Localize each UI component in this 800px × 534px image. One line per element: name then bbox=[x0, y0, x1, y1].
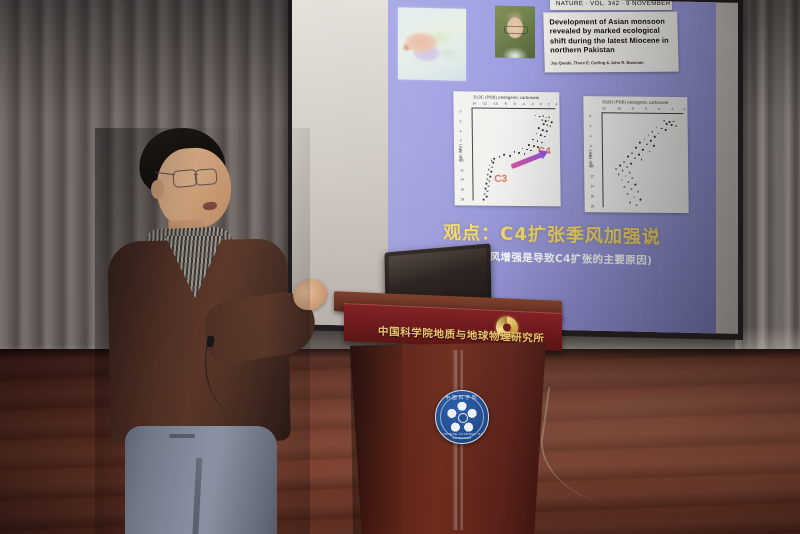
data-point bbox=[541, 142, 543, 144]
chart-delta18o-xticks: -12-10-8-6-4-20 bbox=[601, 106, 685, 111]
data-point bbox=[643, 138, 645, 140]
data-point bbox=[631, 152, 633, 154]
data-point bbox=[546, 130, 548, 132]
data-point bbox=[549, 126, 551, 128]
axis-tick: -10 bbox=[493, 102, 498, 106]
data-point bbox=[485, 188, 487, 190]
data-point bbox=[625, 175, 627, 177]
data-point bbox=[640, 199, 642, 201]
cas-emblem-cn-text: 中国科学院 bbox=[436, 395, 488, 401]
author-portrait-photo bbox=[495, 6, 535, 59]
asia-topographic-map-image bbox=[398, 7, 466, 80]
data-point bbox=[485, 183, 487, 185]
axis-tick: -2 bbox=[670, 107, 673, 111]
paper-title-card: Development of Asian monsoon revealed by… bbox=[543, 12, 679, 72]
data-point bbox=[542, 129, 544, 131]
lectern: 中国科学院地质与地球物理研究所 中国科学院 CHINESE ACADEMY OF… bbox=[330, 262, 562, 534]
speaker bbox=[95, 128, 310, 534]
chart-delta18o-yaxis bbox=[601, 112, 603, 207]
axis-tick: -10 bbox=[616, 106, 621, 110]
data-point bbox=[533, 145, 535, 147]
data-point bbox=[484, 193, 486, 195]
data-point bbox=[629, 202, 631, 204]
data-point bbox=[544, 136, 546, 138]
data-point bbox=[634, 184, 636, 186]
data-point bbox=[621, 179, 623, 181]
data-point bbox=[528, 144, 530, 146]
data-point bbox=[518, 152, 520, 154]
data-point bbox=[665, 129, 667, 131]
axis-tick: -14 bbox=[471, 101, 476, 105]
axis-tick: 16 bbox=[590, 194, 594, 198]
data-point bbox=[642, 149, 644, 151]
data-point bbox=[539, 116, 541, 118]
data-point bbox=[538, 128, 540, 130]
axis-tick: 0 bbox=[460, 109, 464, 113]
data-point bbox=[489, 164, 491, 166]
data-point bbox=[649, 150, 651, 152]
speaker-glasses-right-lens bbox=[194, 168, 217, 186]
data-point bbox=[647, 135, 649, 137]
data-point bbox=[499, 156, 501, 158]
data-point bbox=[487, 174, 489, 176]
axis-tick: -2 bbox=[531, 102, 534, 106]
chart-delta13c: δ13C (PDB) pedogenic carbonate -14-12-10… bbox=[453, 91, 560, 206]
chart-delta18o-xaxis bbox=[601, 112, 683, 114]
data-point bbox=[655, 126, 657, 128]
data-point bbox=[542, 115, 544, 117]
cas-emblem-core bbox=[458, 413, 468, 423]
data-point bbox=[636, 204, 638, 206]
speaker-ear bbox=[151, 180, 164, 199]
slide-heading: 观点：C4扩张季风加强说 bbox=[388, 217, 716, 250]
chart-delta18o-ytitle: Age (Myr) bbox=[587, 139, 592, 179]
axis-tick: 18 bbox=[461, 197, 465, 201]
data-point bbox=[635, 147, 637, 149]
data-point bbox=[676, 125, 678, 127]
data-point bbox=[503, 154, 505, 156]
data-point bbox=[532, 139, 534, 141]
data-point bbox=[653, 145, 655, 147]
axis-tick: -4 bbox=[657, 107, 660, 111]
data-point bbox=[540, 134, 542, 136]
data-point bbox=[626, 193, 628, 195]
data-point bbox=[535, 133, 537, 135]
portrait-glasses-icon bbox=[504, 26, 528, 35]
data-point bbox=[626, 166, 628, 168]
data-point bbox=[661, 127, 663, 129]
data-point bbox=[522, 148, 524, 150]
chart-delta13c-ytitle: Age (Myr) bbox=[457, 133, 462, 173]
lectern-side-panel bbox=[350, 342, 402, 534]
data-point bbox=[633, 196, 635, 198]
data-point bbox=[618, 174, 620, 176]
chart-transition-arrow bbox=[510, 152, 543, 169]
axis-tick: 2 bbox=[590, 124, 594, 128]
paper-title-text: Development of Asian monsoon revealed by… bbox=[549, 17, 672, 55]
data-point bbox=[491, 166, 493, 168]
data-point bbox=[490, 171, 492, 173]
data-point bbox=[489, 180, 491, 182]
data-point bbox=[634, 157, 636, 159]
chart-delta13c-xticks: -14-12-10-8-6-4-2024 bbox=[471, 101, 557, 106]
axis-tick: -12 bbox=[601, 106, 606, 110]
data-point bbox=[637, 191, 639, 193]
speaker-glasses-bridge bbox=[194, 174, 198, 175]
data-point bbox=[551, 121, 553, 123]
axis-tick: -6 bbox=[644, 107, 647, 111]
axis-tick: 14 bbox=[460, 178, 464, 182]
paper-authors-text: Jay Quade, Thure E. Cerling & John R. Bo… bbox=[551, 59, 673, 65]
axis-tick: 0 bbox=[590, 114, 594, 118]
axis-tick: 18 bbox=[591, 204, 595, 208]
chart-delta18o: δ18O (PDB) pedogenic carbonate -12-10-8-… bbox=[583, 96, 688, 213]
cas-emblem-icon: 中国科学院 CHINESE ACADEMY OF SCIENCES bbox=[435, 390, 489, 444]
speaker-glasses-left-lens bbox=[172, 169, 197, 188]
data-point bbox=[654, 136, 656, 138]
data-point bbox=[509, 155, 511, 157]
data-point bbox=[489, 176, 491, 178]
data-point bbox=[619, 165, 621, 167]
axis-tick: 14 bbox=[590, 184, 594, 188]
axis-tick: 0 bbox=[540, 102, 542, 106]
chart-label-c3: C3 bbox=[494, 174, 507, 185]
data-point bbox=[545, 120, 547, 122]
axis-tick: 4 bbox=[590, 134, 594, 138]
data-point bbox=[545, 117, 547, 119]
data-point bbox=[632, 177, 634, 179]
data-point bbox=[547, 120, 549, 122]
data-point bbox=[639, 142, 641, 144]
axis-tick: -12 bbox=[482, 102, 487, 106]
data-point bbox=[548, 116, 550, 118]
data-point bbox=[630, 188, 632, 190]
data-point bbox=[534, 115, 536, 117]
data-point bbox=[646, 143, 648, 145]
data-point bbox=[663, 120, 665, 122]
axis-tick: 0 bbox=[684, 107, 686, 111]
data-point bbox=[630, 163, 632, 165]
axis-tick: -8 bbox=[504, 102, 507, 106]
axis-tick: 4 bbox=[556, 102, 558, 106]
data-point bbox=[628, 181, 630, 183]
data-point bbox=[623, 161, 625, 163]
data-point bbox=[524, 153, 526, 155]
data-point bbox=[615, 168, 617, 170]
data-point bbox=[493, 158, 495, 160]
data-point bbox=[627, 156, 629, 158]
data-point bbox=[666, 123, 668, 125]
journal-citation: NATURE · VOL. 342 · 9 NOVEMBER 1989 bbox=[550, 0, 672, 10]
data-point bbox=[493, 162, 495, 164]
data-point bbox=[546, 125, 548, 127]
axis-tick: -4 bbox=[522, 102, 525, 106]
data-point bbox=[543, 123, 545, 125]
data-point bbox=[514, 151, 516, 153]
data-point bbox=[638, 154, 640, 156]
data-point bbox=[483, 199, 485, 201]
data-point bbox=[541, 119, 543, 121]
cas-emblem-en-text: CHINESE ACADEMY OF SCIENCES bbox=[436, 432, 488, 440]
data-point bbox=[629, 172, 631, 174]
data-point bbox=[650, 140, 652, 142]
chart-delta18o-points bbox=[583, 96, 687, 97]
data-point bbox=[487, 190, 489, 192]
axis-tick: 2 bbox=[548, 102, 550, 106]
data-point bbox=[657, 133, 659, 135]
data-point bbox=[530, 150, 532, 152]
chart-delta13c-yaxis bbox=[472, 107, 474, 200]
data-point bbox=[669, 121, 671, 123]
speaker-belt bbox=[169, 434, 195, 438]
data-point bbox=[673, 121, 675, 123]
data-point bbox=[624, 186, 626, 188]
data-point bbox=[537, 140, 539, 142]
axis-tick: -6 bbox=[513, 102, 516, 106]
chart-delta13c-xtitle: δ13C (PDB) pedogenic carbonate bbox=[453, 94, 559, 100]
data-point bbox=[488, 185, 490, 187]
data-point bbox=[526, 149, 528, 151]
chart-delta13c-xaxis bbox=[472, 107, 556, 109]
data-point bbox=[486, 178, 488, 180]
photograph-scene: NATURE · VOL. 342 · 9 NOVEMBER 1989 Deve… bbox=[0, 0, 800, 534]
chart-delta13c-points bbox=[453, 91, 559, 92]
chart-delta18o-xtitle: δ18O (PDB) pedogenic carbonate bbox=[583, 99, 687, 105]
data-point bbox=[486, 196, 488, 198]
axis-tick: 16 bbox=[460, 187, 464, 191]
data-point bbox=[651, 131, 653, 133]
axis-tick: 2 bbox=[460, 119, 464, 123]
data-point bbox=[641, 159, 643, 161]
data-point bbox=[622, 170, 624, 172]
axis-tick: -8 bbox=[631, 107, 634, 111]
data-point bbox=[671, 124, 673, 126]
